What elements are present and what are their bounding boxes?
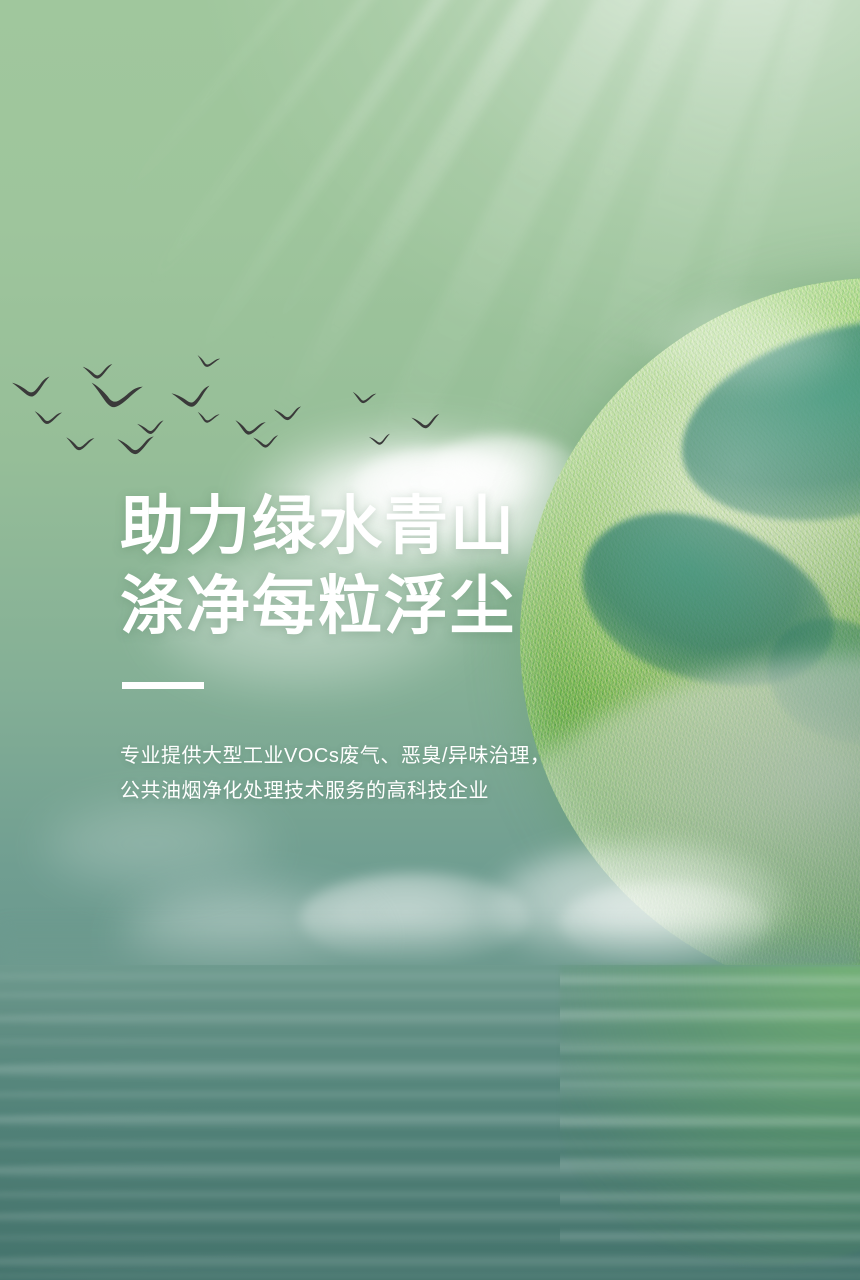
water-ripple-band [0, 1139, 860, 1150]
water-ripple-band [0, 1271, 860, 1280]
water-ripple-band [0, 1233, 860, 1243]
water-ripple-band [0, 1253, 860, 1271]
water-ripple-band [0, 1209, 860, 1225]
hero-copy-block: 助力绿水青山 涤净每粒浮尘 专业提供大型工业VOCs废气、恶臭/异味治理， 公共… [120, 486, 680, 809]
water-ripple-band [0, 1161, 860, 1181]
subcopy-line-2: 公共油烟净化处理技术服务的高科技企业 [120, 774, 680, 809]
water-ripple-band [0, 1011, 860, 1027]
headline-divider [122, 682, 204, 689]
water-ripple-band [0, 1059, 860, 1081]
water-ripple-band [0, 991, 860, 1000]
water-ripple-band [0, 1111, 860, 1129]
water-ripple-band [0, 1037, 860, 1047]
water-surface [0, 965, 860, 1280]
headline-line-1: 助力绿水青山 [120, 486, 680, 566]
subcopy-line-1: 专业提供大型工业VOCs废气、恶臭/异味治理， [120, 739, 680, 774]
water-ripple-band [0, 1089, 860, 1101]
poster-canvas: 助力绿水青山 涤净每粒浮尘 专业提供大型工业VOCs废气、恶臭/异味治理， 公共… [0, 0, 860, 1280]
headline-line-2: 涤净每粒浮尘 [120, 566, 680, 646]
water-ripple-band [0, 1189, 860, 1201]
water-ripple-band [0, 971, 860, 983]
